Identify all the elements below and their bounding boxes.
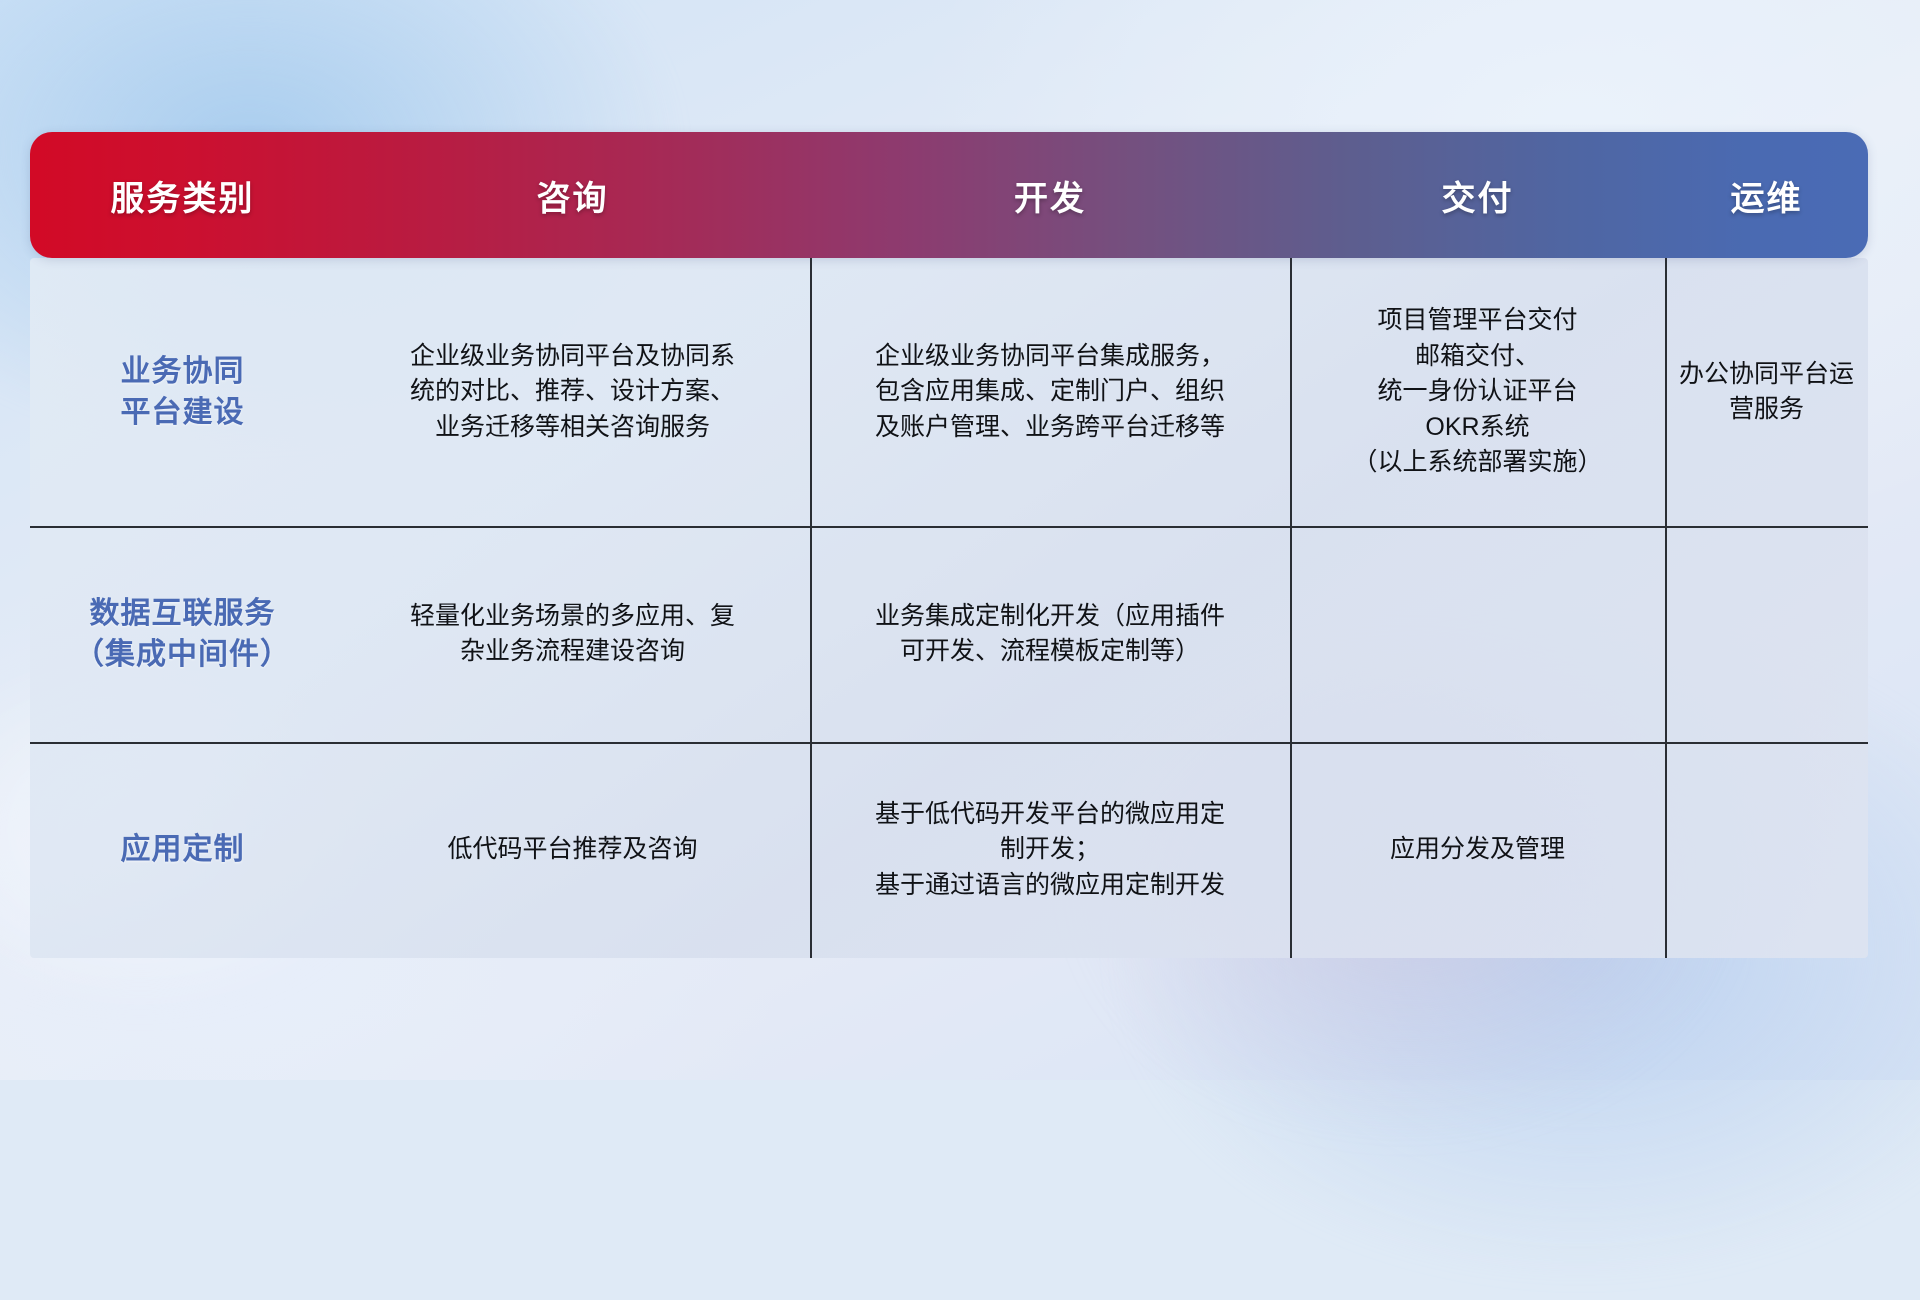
header-cell-consulting: 咨询 [335,132,810,258]
row-divider-1 [30,526,1868,528]
table-row-1-consulting: 企业级业务协同平台及协同系 统的对比、推荐、设计方案、 业务迁移等相关咨询服务 [335,258,810,526]
table-row-2-category: 数据互联服务 （集成中间件） [30,526,335,742]
table-row-2-development: 业务集成定制化开发（应用插件 可开发、流程模板定制等） [810,526,1290,742]
header-cell-development: 开发 [810,132,1290,258]
table-row-1-operations: 办公协同平台运营服务 [1665,258,1868,526]
header-cell-category: 服务类别 [30,132,335,258]
service-matrix-table: 服务类别 咨询 开发 交付 运维 业务协同 平台建设 企业级业务协同平台及协同系… [30,132,1868,958]
table-row-3-category: 应用定制 [30,742,335,958]
table-row-1-development: 企业级业务协同平台集成服务， 包含应用集成、定制门户、组织 及账户管理、业务跨平… [810,258,1290,526]
table-row-3-delivery: 应用分发及管理 [1290,742,1665,958]
header-cell-operations: 运维 [1665,132,1868,258]
header-cell-delivery: 交付 [1290,132,1665,258]
table-grid: 业务协同 平台建设 企业级业务协同平台及协同系 统的对比、推荐、设计方案、 业务… [30,258,1868,958]
table-row-2-delivery [1290,526,1665,742]
table-row-1-delivery: 项目管理平台交付 邮箱交付、 统一身份认证平台 OKR系统 （以上系统部署实施） [1290,258,1665,526]
column-divider-3 [1665,258,1667,958]
column-divider-2 [1290,258,1292,958]
row-divider-2 [30,742,1868,744]
table-row-1-category: 业务协同 平台建设 [30,258,335,526]
table-row-2-consulting: 轻量化业务场景的多应用、复 杂业务流程建设咨询 [335,526,810,742]
table-header-row: 服务类别 咨询 开发 交付 运维 [30,132,1868,258]
table-row-2-operations [1665,526,1868,742]
table-row-3-operations [1665,742,1868,958]
table-row-3-consulting: 低代码平台推荐及咨询 [335,742,810,958]
column-divider-1 [810,258,812,958]
table-row-3-development: 基于低代码开发平台的微应用定 制开发； 基于通过语言的微应用定制开发 [810,742,1290,958]
